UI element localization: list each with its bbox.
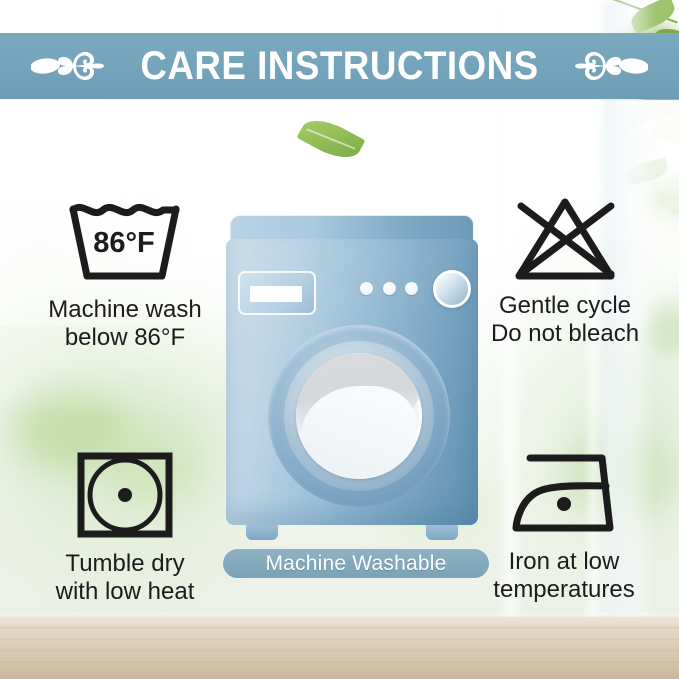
machine-foot	[246, 525, 278, 540]
care-symbol-machine-wash: 86°F Machine wash below 86°F	[12, 196, 238, 352]
header-banner: CARE INSTRUCTIONS	[0, 33, 679, 99]
page-title: CARE INSTRUCTIONS	[140, 44, 538, 89]
machine-body	[226, 239, 478, 525]
machine-dial	[433, 270, 471, 308]
machine-foot	[426, 525, 458, 540]
fleur-de-lis-icon	[574, 43, 648, 89]
machine-washable-badge: Machine Washable	[222, 548, 490, 579]
machine-door-glass	[296, 353, 422, 479]
wash-tub-icon: 86°F	[63, 196, 187, 288]
wooden-table-surface	[0, 617, 679, 679]
wash-temperature-label: 86°F	[93, 227, 155, 259]
dry-heat-dot-icon	[118, 488, 132, 502]
triangle-crossed-bleach-icon	[503, 192, 627, 284]
care-symbol-caption: Gentle cycle Do not bleach	[491, 292, 639, 348]
iron-icon	[502, 446, 626, 540]
washing-machine-illustration	[226, 215, 478, 541]
care-symbol-caption: Machine wash below 86°F	[48, 296, 201, 352]
care-symbol-do-not-bleach: Gentle cycle Do not bleach	[452, 192, 678, 348]
machine-button	[360, 282, 373, 295]
care-symbol-tumble-dry: Tumble dry with low heat	[14, 446, 236, 606]
iron-heat-dot-icon	[557, 497, 571, 511]
machine-washable-badge-label: Machine Washable	[265, 552, 446, 576]
machine-top-panel	[230, 215, 474, 241]
machine-button	[383, 282, 396, 295]
detergent-drawer	[238, 271, 316, 315]
machine-button	[405, 282, 418, 295]
tumble-dry-square-circle-icon	[71, 446, 179, 542]
care-instructions-infographic: CARE INSTRUCTIONS 86°F Machine wash belo…	[0, 0, 679, 679]
care-symbol-caption: Tumble dry with low heat	[56, 550, 195, 606]
detergent-drawer-slot	[250, 286, 302, 302]
fleur-de-lis-icon	[31, 43, 105, 89]
care-symbol-caption: Iron at low temperatures	[493, 548, 634, 604]
care-symbol-iron: Iron at low temperatures	[452, 446, 676, 604]
